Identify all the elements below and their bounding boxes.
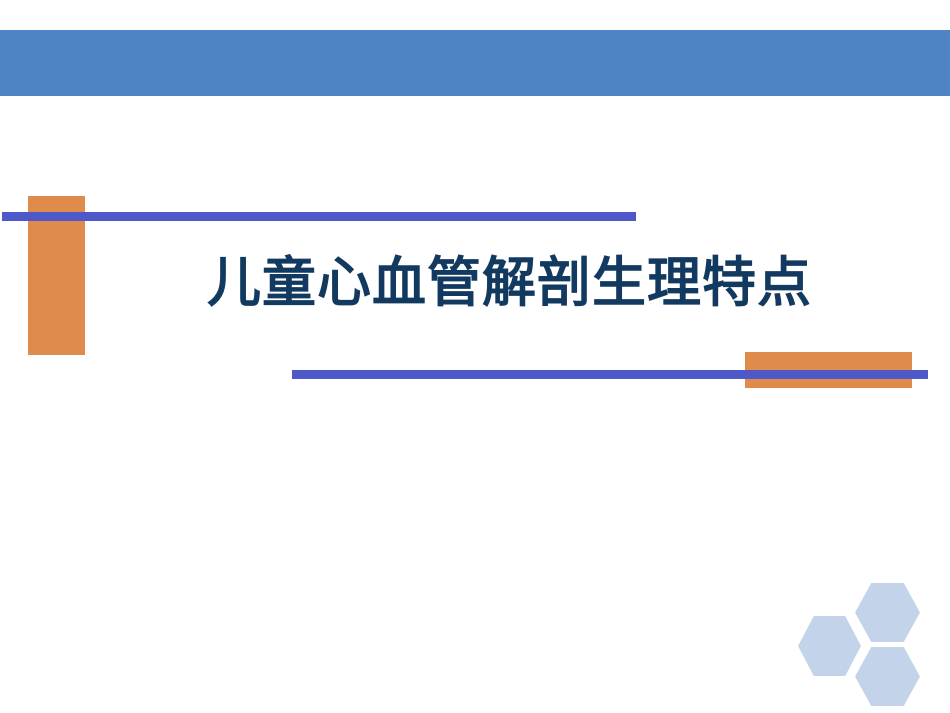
page-title: 儿童心血管解剖生理特点 [207,250,807,316]
hexagon-bottom-icon [855,647,920,706]
hexagon-top-icon [855,583,920,642]
presentation-slide: 儿童心血管解剖生理特点 [0,0,950,713]
rule-bottom [292,370,928,379]
hexagon-left-icon [798,616,861,676]
hexagon-cluster [795,580,950,713]
top-banner-bar [0,30,950,96]
rule-top [2,212,636,221]
